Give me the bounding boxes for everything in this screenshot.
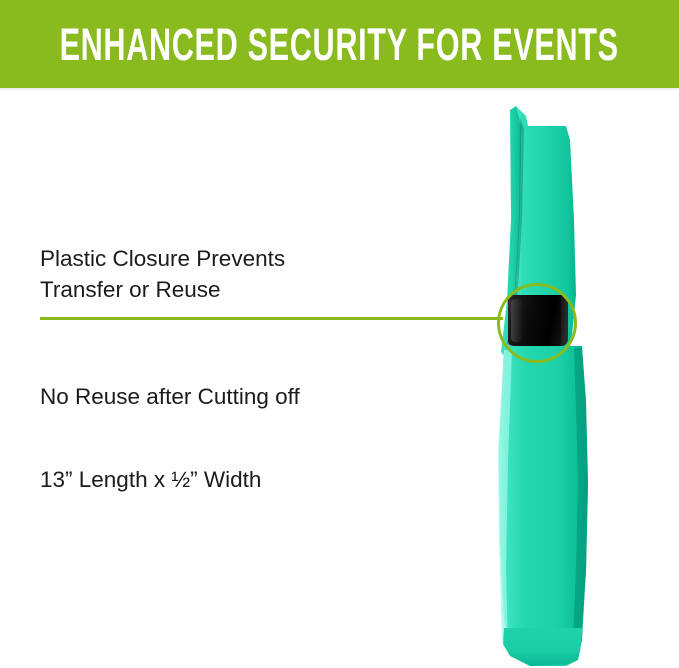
product-infographic: ENHANCED SECURITY FOR EVENTS bbox=[0, 0, 679, 668]
callout-dimensions: 13” Length x ½” Width bbox=[40, 464, 261, 495]
wristband-illustration bbox=[470, 100, 620, 668]
callout-plastic-closure: Plastic Closure Prevents Transfer or Reu… bbox=[40, 243, 285, 305]
band-bottom-fold bbox=[503, 628, 582, 666]
highlight-circle bbox=[497, 283, 577, 363]
callout-no-reuse: No Reuse after Cutting off bbox=[40, 381, 300, 412]
wristband-graphic bbox=[470, 100, 620, 668]
callout-text-column: Plastic Closure Prevents Transfer or Reu… bbox=[40, 0, 460, 668]
